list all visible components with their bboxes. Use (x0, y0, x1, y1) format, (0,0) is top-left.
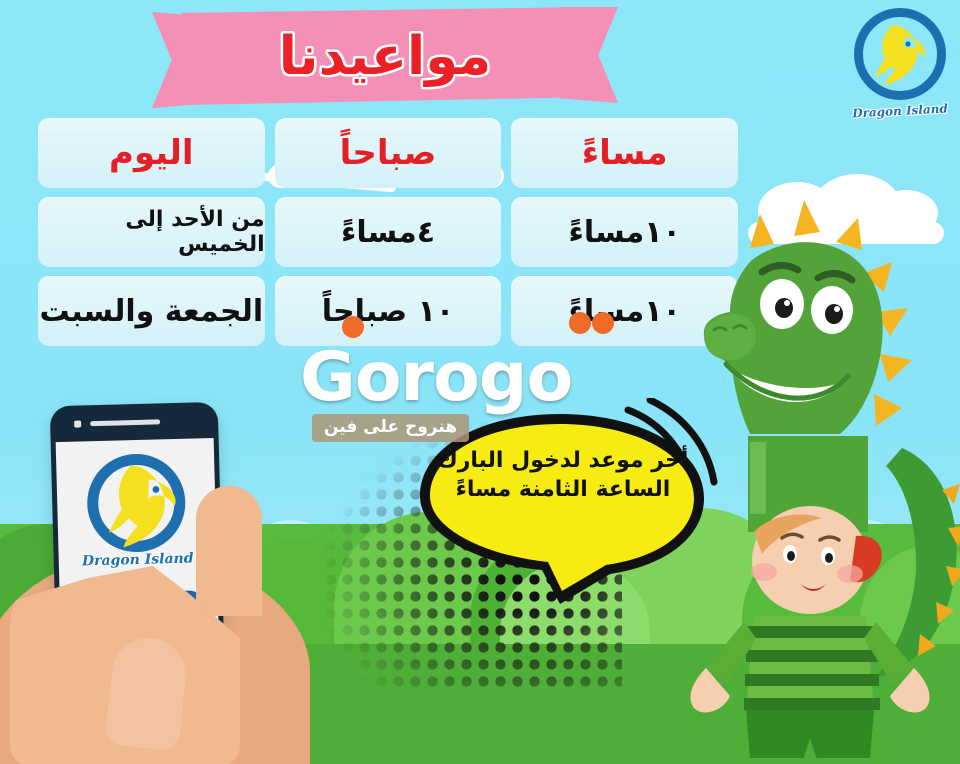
cell-day: الجمعة والسبت (38, 276, 265, 346)
watermark-dot (342, 316, 364, 338)
notice-text: أخر موعد لدخول البارك الساعة الثامنة مسا… (432, 446, 694, 504)
watermark-dot (592, 312, 614, 334)
header-evening: مساءً (511, 118, 738, 188)
camera-icon (74, 420, 81, 427)
header-morning: صباحاً (275, 118, 502, 188)
cell-day: من الأحد إلى الخميس (38, 197, 265, 267)
page-title: مواعيدنا (152, 7, 618, 111)
table-header-row: اليوم صباحاً مساءً (38, 118, 738, 188)
cell-morning: ١٠ صباحاً (275, 276, 502, 346)
notice-line-2: الساعة الثامنة مساءً (432, 475, 694, 504)
title-banner: مواعيدنا (152, 7, 618, 111)
header-day: اليوم (38, 118, 265, 188)
brand-logo: Dragon Island (848, 6, 952, 118)
schedule-table: اليوم صباحاً مساءً من الأحد إلى الخميس ٤… (38, 118, 738, 355)
table-row: من الأحد إلى الخميس ٤مساءً ١٠مساءً (38, 197, 738, 267)
poster-canvas: مواعيدنا Dragon Island اليوم صباحاً مساء… (0, 0, 960, 764)
watermark-logo: Gorogo (300, 338, 572, 417)
speaker-grille (90, 419, 160, 426)
watermark-dot (569, 312, 591, 334)
notice-line-1: أخر موعد لدخول البارك (432, 446, 694, 475)
table-row: الجمعة والسبت ١٠ صباحاً ١٠مساءً (38, 276, 738, 346)
watermark-tagline: هنروح على فين (312, 414, 469, 442)
hand-finger (196, 486, 262, 616)
cell-morning: ٤مساءً (275, 197, 502, 267)
